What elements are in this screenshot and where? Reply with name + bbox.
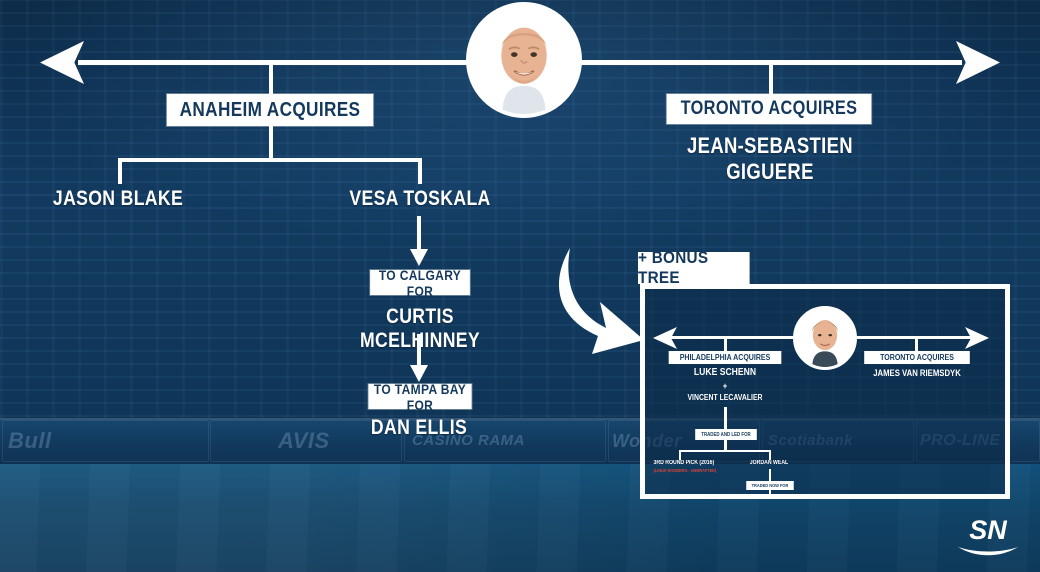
bonus-tree-frame: PHILADELPHIA ACQUIRES LUKE SCHENN + VINC… bbox=[640, 284, 1010, 499]
bonus-plus-sign: + bbox=[670, 381, 780, 391]
sportsnet-logo: SN bbox=[952, 512, 1024, 558]
bonus-trade-box-1: TRADED AND LED FOR bbox=[695, 429, 757, 440]
bonus-player-jordan-weal: JORDAN WEAL bbox=[741, 460, 796, 466]
connector-toronto-to-axis bbox=[769, 62, 773, 96]
bonus-connector-down-1 bbox=[724, 407, 727, 429]
arrow-down-to-tampa-icon bbox=[404, 334, 434, 384]
bonus-player-vincent-lecavalier: VINCENT LECAVALIER bbox=[670, 393, 780, 402]
to-calgary-for-label: TO CALGARY FOR bbox=[370, 270, 470, 295]
connector-to-vesa-toskala bbox=[418, 158, 422, 184]
bonus-split-2 bbox=[719, 497, 815, 499]
bonus-tree-tab: + BONUS TREE bbox=[638, 252, 750, 284]
bonus-pick-3rd-round: 3RD ROUND PICK (2016) bbox=[653, 460, 708, 466]
bonus-arrow-left-icon bbox=[653, 327, 679, 349]
bonus-center-headshot bbox=[793, 306, 857, 370]
bonus-arrow-right-icon bbox=[963, 327, 989, 349]
bonus-split-2-left bbox=[719, 497, 721, 499]
player-jason-blake: JASON BLAKE bbox=[42, 187, 193, 211]
connector-anaheim-down bbox=[269, 126, 273, 160]
bonus-connector-down-4 bbox=[769, 490, 771, 499]
bonus-connector-philadelphia bbox=[724, 337, 727, 351]
philadelphia-acquires-label: PHILADELPHIA ACQUIRES bbox=[669, 351, 782, 364]
bonus-player-face-illustration bbox=[796, 309, 854, 367]
infographic-stage: Bull AVIS CASINO RAMA Wonder Scotiabank … bbox=[0, 0, 1040, 572]
toronto-acquires-label: TORONTO ACQUIRES bbox=[667, 94, 872, 124]
connector-anaheim-to-axis bbox=[269, 62, 273, 96]
bonus-trade-box-2: TRADED NOW FOR bbox=[746, 481, 794, 490]
player-vesa-toskala: VESA TOSKALA bbox=[344, 187, 495, 211]
bonus-split-1 bbox=[679, 450, 771, 452]
connector-anaheim-split bbox=[118, 158, 422, 162]
to-tampa-bay-for-label: TO TAMPA BAY FOR bbox=[368, 384, 471, 409]
bonus-split-1-right bbox=[769, 450, 771, 460]
connector-to-jason-blake bbox=[118, 158, 122, 184]
anaheim-acquires-label: ANAHEIM ACQUIRES bbox=[167, 94, 373, 126]
bonus-player-luke-schenn: LUKE SCHENN bbox=[670, 367, 780, 378]
board-ad-bull: Bull bbox=[8, 424, 98, 458]
player-face-illustration bbox=[470, 6, 578, 114]
bonus-connector-toronto bbox=[915, 337, 918, 351]
bonus-player-james-van-riemsdyk: JAMES VAN RIEMSDYK bbox=[860, 368, 974, 378]
bonus-tree-content: PHILADELPHIA ACQUIRES LUKE SCHENN + VINC… bbox=[645, 289, 1005, 494]
svg-text:SN: SN bbox=[969, 515, 1007, 545]
player-jean-sebastien-giguere: JEAN-SEBASTIEN GIGUERE bbox=[661, 133, 879, 185]
player-dan-ellis: DAN ELLIS bbox=[356, 416, 482, 440]
bonus-toronto-acquires-label: TORONTO ACQUIRES bbox=[864, 351, 970, 364]
bonus-split-1-left bbox=[679, 450, 681, 460]
arrow-down-to-calgary-icon bbox=[404, 216, 434, 268]
bonus-split-2-right bbox=[813, 497, 815, 499]
center-player-headshot bbox=[466, 2, 582, 118]
bonus-pick-3rd-round-sub: (LINUS HOGBERG - UNDRAFTED) bbox=[653, 468, 708, 473]
